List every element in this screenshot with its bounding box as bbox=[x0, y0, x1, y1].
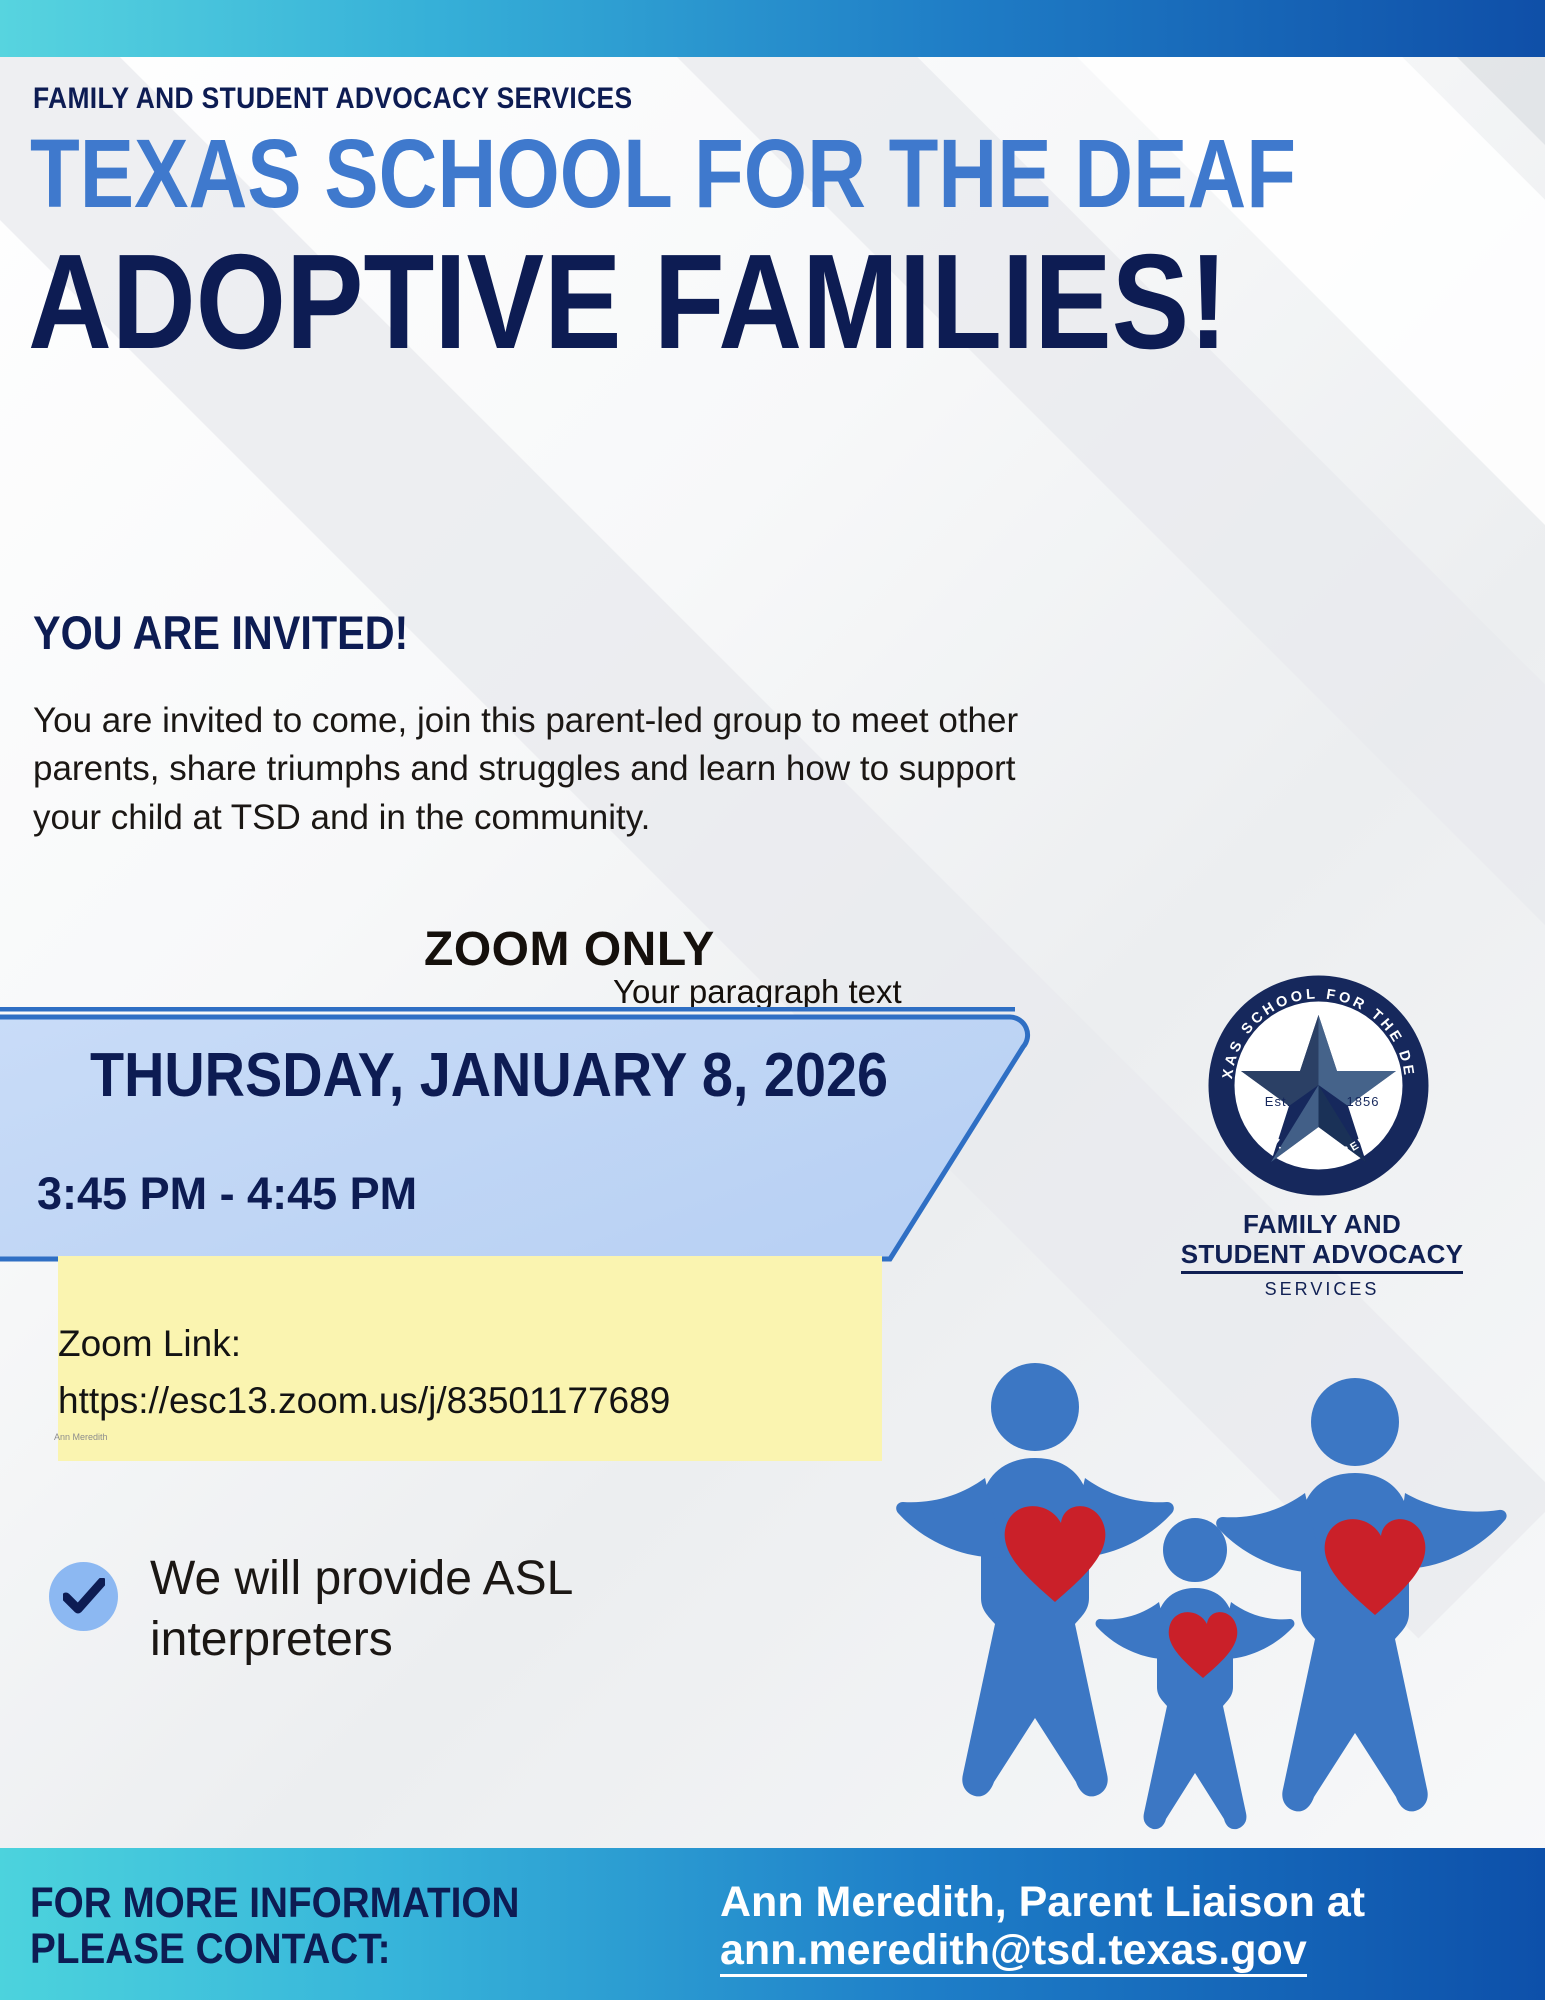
flyer-poster: FAMILY AND STUDENT ADVOCACY SERVICES TEX… bbox=[0, 0, 1545, 2000]
logo-est-label: Est. bbox=[1265, 1094, 1291, 1109]
footer-contact-details: Ann Meredith, Parent Liaison at ann.mere… bbox=[720, 1878, 1365, 1977]
check-icon bbox=[49, 1562, 118, 1631]
zoom-link-label: Zoom Link: bbox=[58, 1323, 241, 1365]
tsd-seal-logo: TEXAS SCHOOL FOR THE DEAF LEARN. GROW. B… bbox=[1206, 973, 1431, 1198]
event-date: THURSDAY, JANUARY 8, 2026 bbox=[90, 1040, 888, 1111]
logo-caption-line3: SERVICES bbox=[1152, 1279, 1492, 1300]
sticky-signature: Ann Meredith bbox=[54, 1432, 108, 1442]
footer-contact-label-line1: FOR MORE INFORMATION bbox=[30, 1879, 519, 1927]
invited-heading: YOU ARE INVITED! bbox=[33, 605, 408, 660]
zoom-link-url[interactable]: https://esc13.zoom.us/j/83501177689 bbox=[58, 1380, 670, 1422]
footer-contact-email[interactable]: ann.meredith@tsd.texas.gov bbox=[720, 1926, 1307, 1977]
logo-caption-line1: FAMILY AND bbox=[1243, 1209, 1401, 1239]
school-name-title: TEXAS SCHOOL FOR THE DEAF bbox=[30, 128, 1296, 220]
zoom-only-label: ZOOM ONLY bbox=[424, 922, 715, 977]
top-accent-bar bbox=[0, 0, 1545, 57]
kicker-text: FAMILY AND STUDENT ADVOCACY SERVICES bbox=[33, 82, 632, 116]
footer-contact-label: FOR MORE INFORMATION PLEASE CONTACT: bbox=[30, 1880, 519, 1973]
logo-caption-line2: STUDENT ADVOCACY bbox=[1181, 1240, 1464, 1275]
logo-caption: FAMILY AND STUDENT ADVOCACY SERVICES bbox=[1152, 1210, 1492, 1300]
logo-est-year: 1856 bbox=[1347, 1094, 1380, 1109]
asl-interpreters-note: We will provide ASL interpreters bbox=[150, 1548, 670, 1671]
footer-contact-label-line2: PLEASE CONTACT: bbox=[30, 1925, 390, 1973]
footer-contact-name: Ann Meredith, Parent Liaison at bbox=[720, 1878, 1365, 1926]
event-time: 3:45 PM - 4:45 PM bbox=[37, 1168, 417, 1220]
paragraph-placeholder-text: Your paragraph text bbox=[613, 973, 902, 1011]
main-headline: ADOPTIVE FAMILIES! bbox=[28, 238, 1228, 366]
family-with-hearts-icon bbox=[895, 1310, 1545, 1850]
invitation-body-text: You are invited to come, join this paren… bbox=[33, 697, 1063, 842]
